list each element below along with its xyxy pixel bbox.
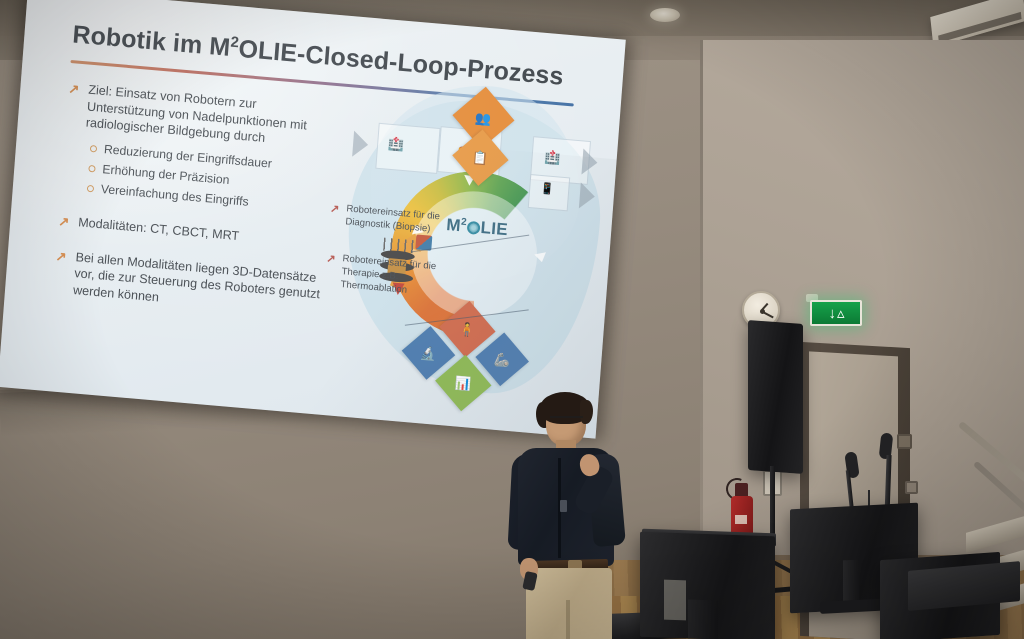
title-prefix: Robotik im M <box>72 20 232 62</box>
bullet-text: Modalitäten: CT, CBCT, MRT <box>78 214 240 245</box>
annotation-arrow-icon: ↗ <box>324 252 336 292</box>
bullet-item: ↗ Modalitäten: CT, CBCT, MRT <box>58 212 326 252</box>
hospital-icon: 🏥 <box>544 150 561 164</box>
process-arrow-icon <box>581 149 598 176</box>
hospital-icon: 🏥 <box>388 137 405 151</box>
emergency-exit-sign: ↓ ▵ <box>810 300 862 326</box>
device-icon: 📱 <box>540 184 554 196</box>
bullet-text: Bei allen Modalitäten liegen 3D-Datensät… <box>72 249 323 320</box>
logo-o-mark-icon <box>467 221 481 235</box>
exit-down-arrow-icon: ↓ <box>828 306 835 321</box>
light-switch[interactable] <box>897 434 912 449</box>
bullet-arrow-icon: ↗ <box>53 248 68 299</box>
microscope-icon: 🔬 <box>420 346 437 360</box>
bullet-item: ↗ Bei allen Modalitäten liegen 3D-Datens… <box>53 247 324 320</box>
glasses-icon <box>550 416 583 418</box>
annotation-list: ↗ Robotereinsatz für die Diagnostik (Bio… <box>322 201 460 325</box>
people-icon: 👥 <box>475 111 492 125</box>
circle-bullet-icon <box>87 185 95 193</box>
annotation-item: ↗ Robotereinsatz für die Therapie z.B. T… <box>324 251 456 301</box>
process-box: 🏥 <box>375 123 440 174</box>
wall-outlet[interactable] <box>905 481 918 494</box>
hair <box>580 400 593 424</box>
clock-center-pin <box>760 309 765 314</box>
exit-running-person-icon: ▵ <box>837 306 844 321</box>
annotation-text: Robotereinsatz für die Therapie z.B. The… <box>340 252 456 301</box>
bullet-arrow-icon: ↗ <box>65 81 80 132</box>
lecture-hall-scene: ↓ ▵ Robotik im M2OLIE-Close <box>0 0 1024 639</box>
annotation-arrow-icon: ↗ <box>329 202 340 229</box>
monitor-stand <box>688 599 718 639</box>
slide: Robotik im M2OLIE-Closed-Loop-Prozess ↗ … <box>0 0 626 439</box>
clipboard-icon: 📋 <box>472 150 489 164</box>
circle-bullet-icon <box>88 165 96 173</box>
fire-extinguisher-label <box>735 515 747 524</box>
circle-bullet-icon <box>90 145 98 153</box>
clip-microphone-icon <box>560 500 567 512</box>
presenter <box>498 392 668 639</box>
logo-suffix: LIE <box>480 218 509 239</box>
process-arrow-icon <box>579 182 596 209</box>
pa-speaker <box>748 320 803 474</box>
person-icon: 🧍 <box>459 322 476 336</box>
bullet-text: Ziel: Einsatz von Robotern zur Unterstüt… <box>85 82 336 153</box>
trouser-seam <box>566 600 570 639</box>
sub-bullet-list: Reduzierung der Eingriffsdauer Erhöhung … <box>86 141 331 217</box>
ceiling-downlight-icon <box>650 8 680 22</box>
robot-arm-icon: 🦾 <box>494 352 511 366</box>
process-arrow-icon <box>352 131 369 158</box>
chart-icon: 📊 <box>455 376 472 390</box>
bullet-list: ↗ Ziel: Einsatz von Robotern zur Unterst… <box>52 80 336 329</box>
bullet-arrow-icon: ↗ <box>58 213 70 231</box>
projection-screen: Robotik im M2OLIE-Closed-Loop-Prozess ↗ … <box>0 0 626 439</box>
